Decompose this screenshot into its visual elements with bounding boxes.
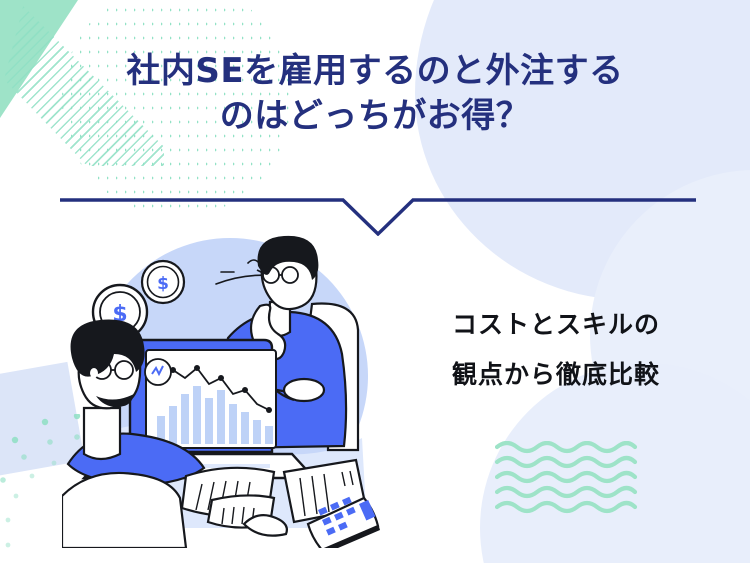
page-title-line-2: のはどっちがお得？	[0, 94, 750, 139]
zigzag-row	[62, 10, 292, 24]
subtitle: コストとスキルの 観点から徹底比較	[398, 300, 714, 400]
zigzag-row	[62, 164, 292, 178]
illustration-two-people-analyzing-chart: $ $	[62, 228, 392, 548]
zigzag-row	[62, 178, 292, 192]
zigzag-row	[62, 24, 292, 38]
dollar-coin-small: $	[142, 261, 184, 303]
page-title: 社内SEを雇用するのと外注する のはどっちがお得？	[0, 49, 750, 139]
zigzag-row	[62, 0, 292, 10]
mint-wavy-lines-bottom-right	[495, 441, 655, 515]
page-title-line-1: 社内SEを雇用するのと外注する	[0, 49, 750, 94]
divider	[60, 196, 696, 236]
thumbnail-canvas: 社内SEを雇用するのと外注する のはどっちがお得？ コストとスキルの 観点から徹…	[0, 0, 750, 563]
svg-text:$: $	[157, 274, 169, 294]
zigzag-row	[62, 150, 292, 164]
subtitle-line-2: 観点から徹底比較	[398, 350, 714, 400]
pale-blue-blob-top-right	[415, 0, 750, 300]
subtitle-line-1: コストとスキルの	[398, 300, 714, 350]
